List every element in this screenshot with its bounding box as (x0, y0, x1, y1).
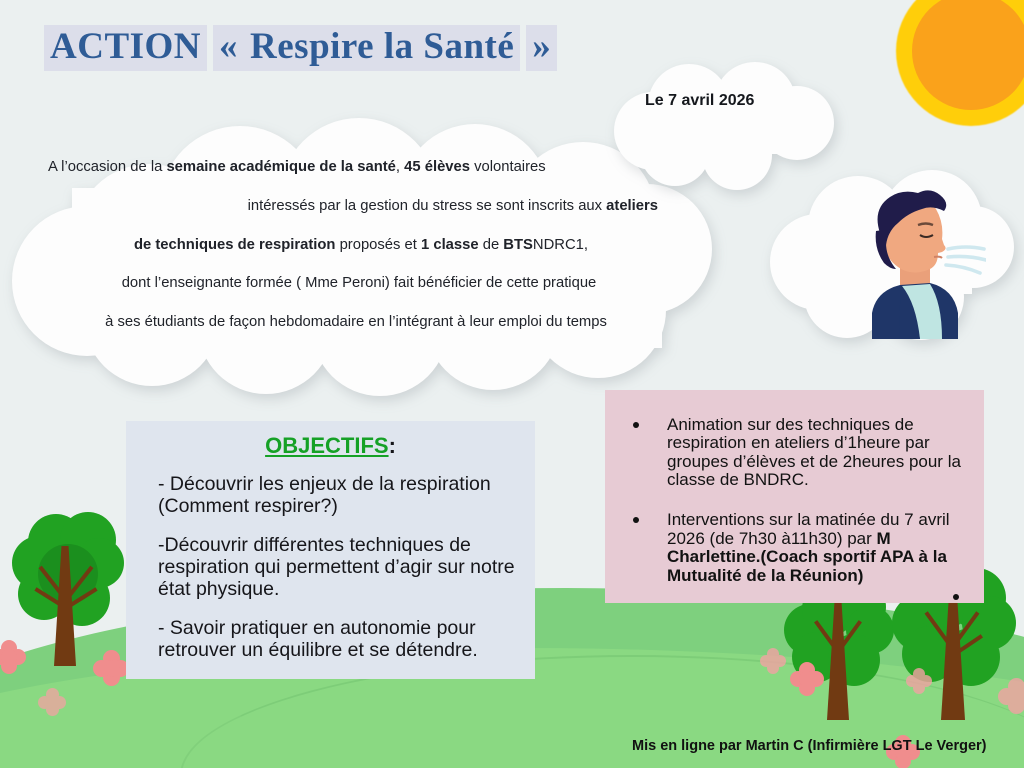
bullet-icon (633, 422, 639, 428)
objectives-heading-colon: : (389, 433, 396, 458)
main-paragraph: A l’occasion de la semaine académique de… (30, 160, 682, 330)
slide-canvas: A l’occasion de la semaine académique de… (0, 0, 1024, 768)
bullet-icon (633, 517, 639, 523)
objectives-box: OBJECTIFS: - Découvrir les enjeux de la … (126, 421, 535, 679)
main-line-4: dont l’enseignante formée ( Mme Peroni) … (30, 276, 682, 291)
flower-icon (906, 668, 932, 694)
flower-icon (790, 662, 824, 696)
info-item-text: Interventions sur la matinée du 7 avril … (667, 510, 950, 547)
tree-right-a (782, 580, 900, 740)
objectives-list: - Découvrir les enjeux de la respiration… (138, 473, 523, 661)
main-line-3: de techniques de respiration proposés et… (30, 238, 682, 253)
main-line-2: intéressés par la gestion du stress se s… (30, 199, 682, 214)
info-list: Animation sur des techniques de respirat… (619, 416, 970, 585)
footer-credit: Mis en ligne par Martin C (Infirmière LG… (632, 738, 987, 754)
info-box: Animation sur des techniques de respirat… (605, 390, 984, 603)
objective-item: - Savoir pratiquer en autonomie pour ret… (158, 617, 523, 661)
objectives-heading-text: OBJECTIFS (265, 433, 388, 458)
objective-item: -Découvrir différentes techniques de res… (158, 534, 523, 600)
title-open-quote: « (213, 25, 244, 71)
info-item-text: Animation sur des techniques de respirat… (667, 415, 961, 489)
mouth-shape (934, 257, 942, 258)
info-item: Interventions sur la matinée du 7 avril … (619, 511, 970, 584)
man-breathing-illustration (838, 187, 986, 339)
flower-icon (760, 648, 786, 674)
title-close-quote: » (526, 25, 557, 71)
decorative-dot (953, 594, 959, 600)
title-subject: Respire la Santé (244, 25, 520, 71)
main-line-1: A l’occasion de la semaine académique de… (30, 160, 682, 175)
objectives-heading: OBJECTIFS: (138, 433, 523, 459)
date-badge: Le 7 avril 2026 (645, 92, 754, 110)
title-action: ACTION (44, 25, 207, 71)
breath-lines (946, 247, 986, 273)
flower-icon (0, 640, 26, 674)
flower-icon (38, 688, 66, 716)
flower-icon (998, 678, 1024, 714)
info-item: Animation sur des techniques de respirat… (619, 416, 970, 489)
main-line-5: à ses étudiants de façon hebdomadaire en… (30, 315, 682, 330)
objective-item: - Découvrir les enjeux de la respiration… (158, 473, 523, 517)
flower-icon (93, 650, 129, 686)
page-title: ACTION«Respire la Santé» (44, 25, 557, 71)
